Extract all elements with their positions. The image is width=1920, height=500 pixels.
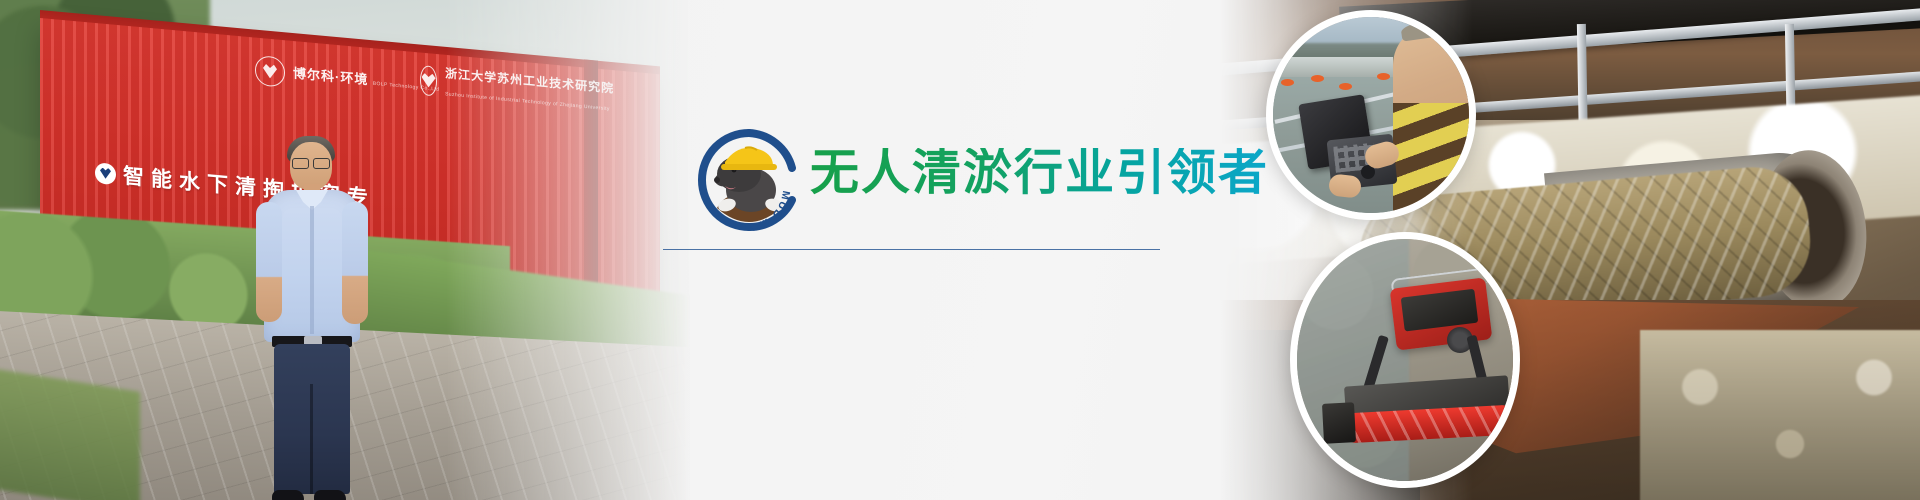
shallow-water bbox=[1290, 239, 1409, 488]
orange-float bbox=[1339, 83, 1352, 90]
right-arm bbox=[342, 202, 368, 324]
mud-mole-logo: MUD MOLE bbox=[695, 126, 803, 234]
shirt-placket bbox=[310, 206, 314, 334]
university-seal-icon bbox=[420, 65, 437, 97]
left-arm bbox=[256, 202, 282, 322]
person-portrait bbox=[252, 128, 372, 488]
center-content: MUD MOLE 无人清淤行业引领者 bbox=[690, 0, 1230, 500]
striped-shirt bbox=[1393, 103, 1476, 220]
right-shoe bbox=[314, 490, 346, 500]
grass-patch bbox=[0, 368, 140, 500]
brand-secondary-cn: 浙江大学苏州工业技术研究院 bbox=[445, 66, 614, 95]
orange-float bbox=[1281, 79, 1294, 86]
hero-banner: 博尔科·环境 BOLP Technology Co.,Ltd 浙江大学苏州工业技… bbox=[0, 0, 1920, 500]
page-title: 无人清淤行业引领者 bbox=[810, 148, 1269, 197]
bolp-seal-icon bbox=[255, 55, 285, 88]
brand-primary-cn: 博尔科·环境 bbox=[293, 66, 368, 88]
glasses-icon bbox=[292, 158, 330, 168]
left-photo: 博尔科·环境 BOLP Technology Co.,Ltd 浙江大学苏州工业技… bbox=[0, 0, 720, 500]
orange-float bbox=[1311, 75, 1324, 82]
brand-primary: 博尔科·环境 BOLP Technology Co.,Ltd bbox=[255, 55, 439, 102]
auger-end-cap bbox=[1322, 402, 1356, 444]
orange-float bbox=[1377, 73, 1390, 80]
operator-control-circle bbox=[1266, 10, 1476, 220]
left-shoe bbox=[272, 490, 304, 500]
slogan-badge-icon bbox=[95, 162, 116, 185]
divider bbox=[663, 249, 1160, 250]
dredging-robot-circle bbox=[1290, 232, 1520, 488]
trousers bbox=[274, 344, 350, 494]
brand-secondary: 浙江大学苏州工业技术研究院 Suzhou Institute of Indust… bbox=[420, 62, 627, 116]
brand-secondary-en: Suzhou Institute of Industrial Technolog… bbox=[445, 91, 610, 112]
